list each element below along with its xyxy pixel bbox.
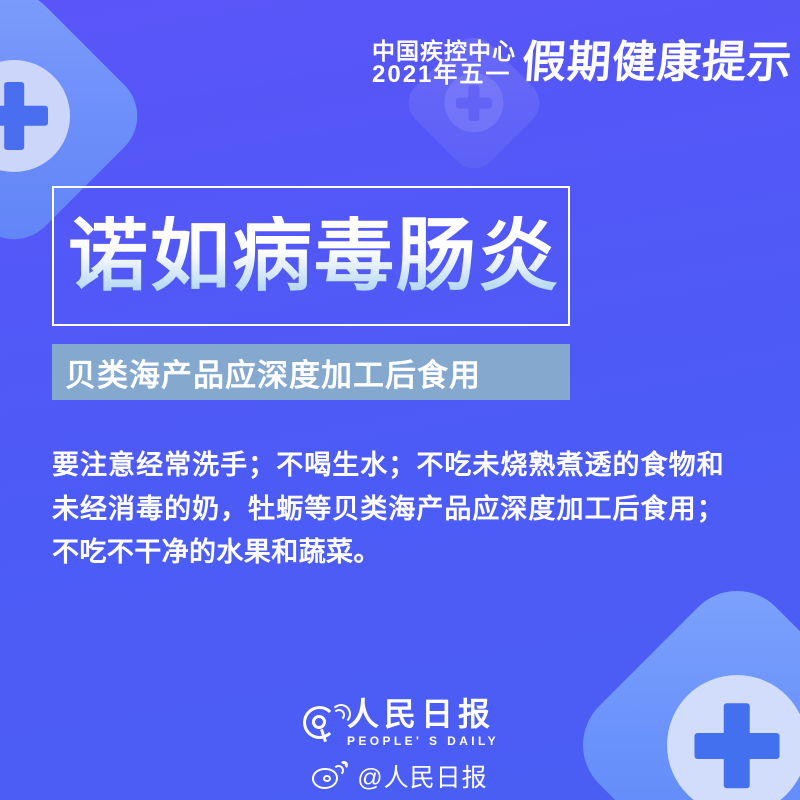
header-org-line2: 2021年五一	[372, 63, 516, 87]
weibo-handle-text: @人民日报	[357, 758, 487, 794]
brand-wordmark: 人民日报 PEOPLE' S DAILY	[347, 698, 499, 747]
header-calligraphy-title: 假期健康提示	[520, 41, 793, 87]
body-paragraph: 要注意经常洗手；不喝生水；不吃未烧熟煮透的食物和未经消毒的奶，牡蛎等贝类海产品应…	[52, 444, 724, 575]
subtitle-text: 贝类海产品应深度加工后食用	[65, 350, 481, 395]
page-title: 诺如病毒肠炎	[68, 216, 560, 296]
header-org-line1: 中国疾控中心	[372, 40, 516, 63]
brand-name-cn: 人民日报	[347, 698, 495, 730]
at-megaphone-icon	[301, 703, 341, 743]
weibo-handle-row: @人民日报	[0, 758, 800, 794]
health-tip-poster: 中国疾控中心 2021年五一 假期健康提示 诺如病毒肠炎 贝类海产品应深度加工后…	[0, 0, 800, 800]
subtitle-band: 贝类海产品应深度加工后食用	[52, 344, 570, 400]
page-title-box: 诺如病毒肠炎	[52, 186, 570, 326]
header-org-lines: 中国疾控中心 2021年五一	[372, 40, 516, 88]
brand-name-en: PEOPLE' S DAILY	[347, 735, 499, 747]
brand-logo: 人民日报 PEOPLE' S DAILY	[0, 698, 800, 747]
weibo-eye-icon	[312, 762, 348, 790]
poster-header: 中国疾控中心 2021年五一 假期健康提示	[0, 32, 800, 96]
